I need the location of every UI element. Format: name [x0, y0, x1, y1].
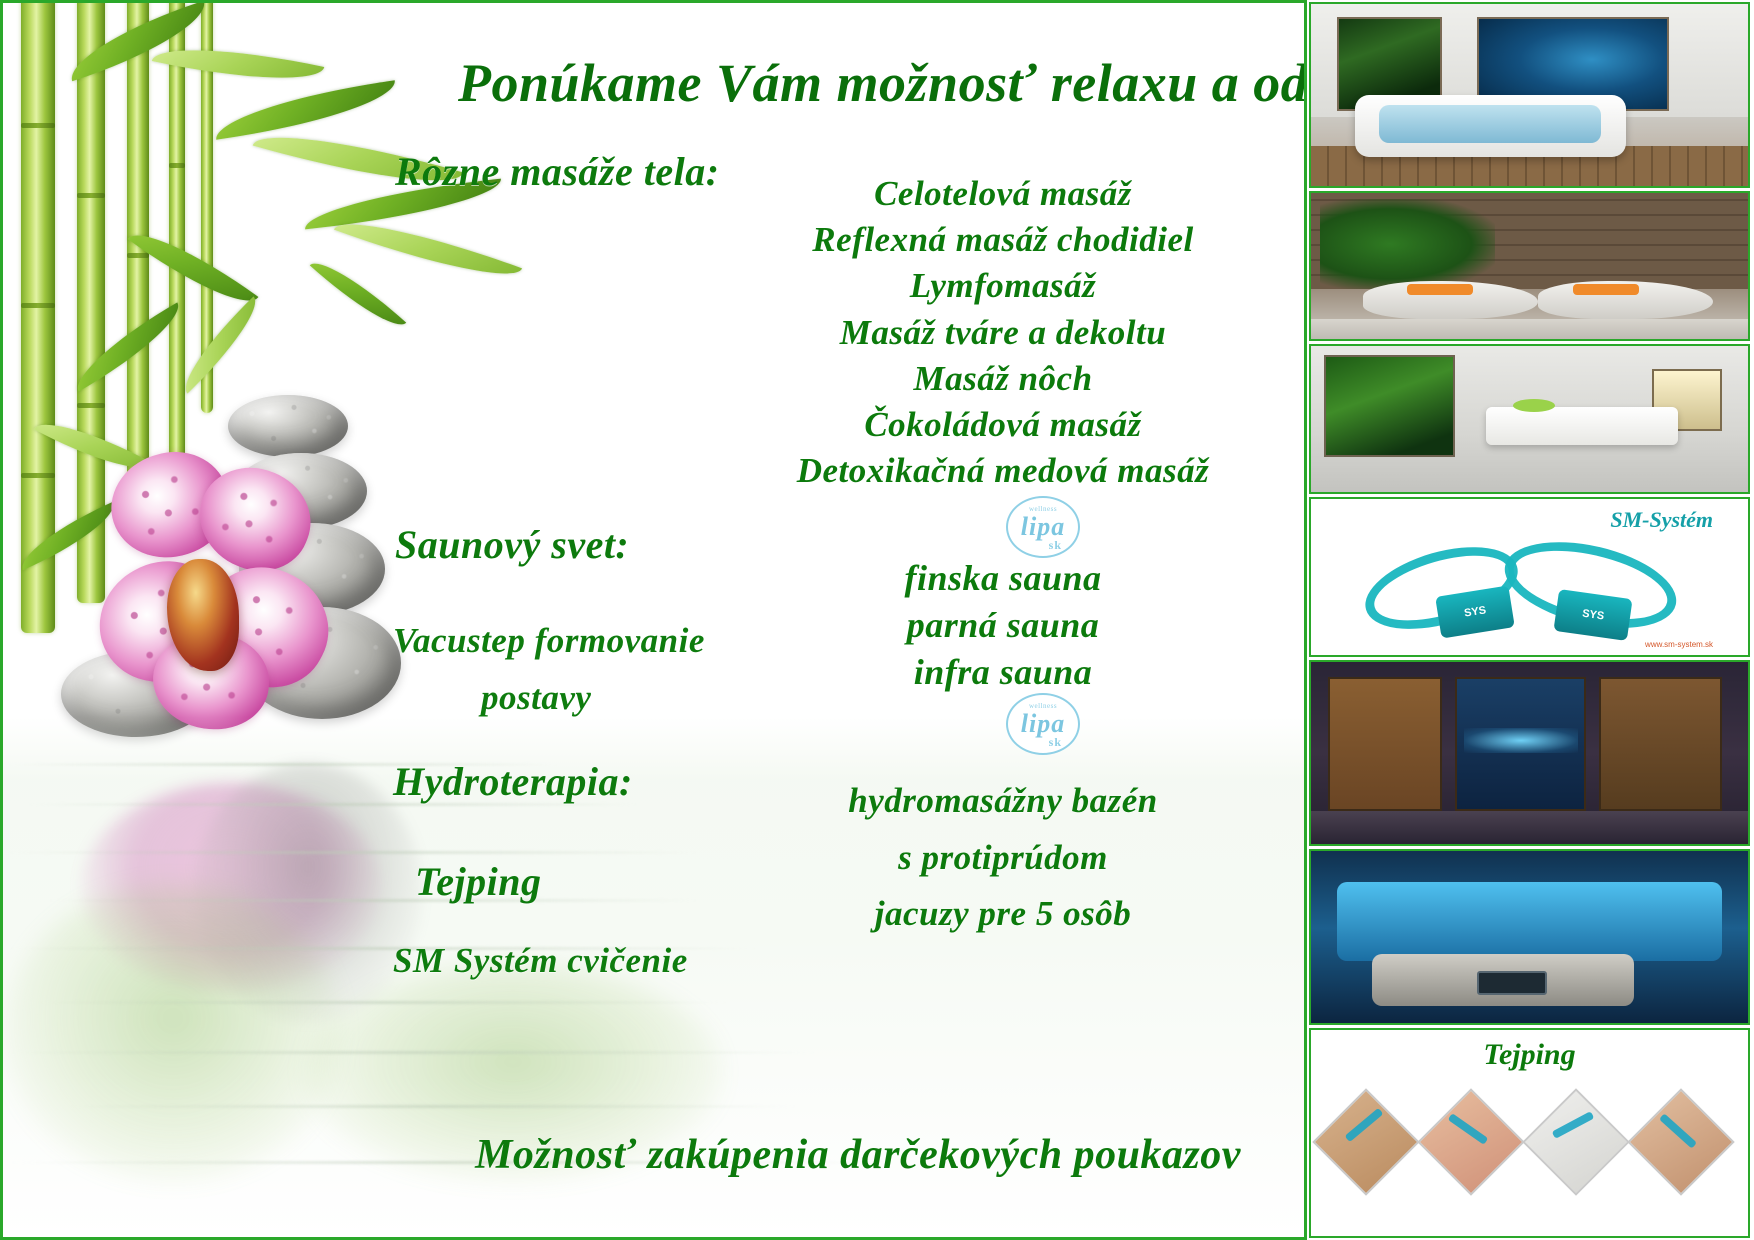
list-item: parná sauna [703, 602, 1303, 649]
sm-system-caption: SM-Systém [1610, 507, 1713, 533]
main-content-panel: Ponúkame Vám možnosť relaxu a oddychu Rô… [0, 0, 1307, 1240]
whirlpool-tub [1355, 95, 1626, 157]
photo-sauna-cabins [1309, 660, 1750, 846]
sauna-cabin [1599, 677, 1721, 812]
tejping-thumb [1418, 1088, 1525, 1195]
sm-system-url: www.sm-system.sk [1645, 640, 1713, 649]
photo-whirlpool-room [1309, 2, 1750, 188]
tejping-thumb [1313, 1088, 1420, 1195]
photo-sm-system-bands: SM-Systém SYS SYS www.sm-system.sk [1309, 497, 1750, 657]
photo-jacuzzi [1309, 849, 1750, 1025]
wall-mural-bamboo [1324, 355, 1455, 457]
jacuzzi-water [1337, 882, 1722, 961]
section-heading-massages: Rôzne masáže tela: [395, 148, 720, 195]
list-item: Lymfomasáž [703, 263, 1303, 309]
list-item: jacuzy pre 5 osôb [703, 886, 1303, 943]
list-item: hydromasážny bazén [703, 773, 1303, 830]
green-plants [1320, 199, 1495, 290]
spa-promo-poster: Ponúkame Vám možnosť relaxu a oddychu Rô… [0, 0, 1754, 1240]
section-heading-sauna: Saunový svet: [395, 521, 629, 568]
list-item: Masáž nôch [703, 356, 1303, 402]
sauna-list: finska sauna parná sauna infra sauna [703, 555, 1303, 695]
lipa-logo-sub: sk [1049, 735, 1062, 750]
list-item: Masáž tváre a dekoltu [703, 310, 1303, 356]
lipa-wellness-logo: wellness lipa sk [1006, 693, 1080, 755]
orange-towel [1407, 284, 1473, 296]
list-item: Reflexná masáž chodidiel [703, 217, 1303, 263]
lipa-wellness-logo: wellness lipa sk [1006, 496, 1080, 558]
tejping-caption: Tejping [1483, 1038, 1575, 1072]
photo-tejping: Tejping [1309, 1028, 1750, 1238]
page-title: Ponúkame Vám možnosť relaxu a oddychu [458, 55, 1288, 112]
orange-towel [1573, 284, 1639, 296]
massage-list: Celotelová masáž Reflexná masáž chodidie… [703, 171, 1303, 494]
list-item: infra sauna [703, 649, 1303, 696]
service-vacustep-line1: Vacustep formovanie [393, 621, 705, 661]
massage-table [1486, 407, 1678, 445]
photo-massage-room [1309, 344, 1750, 494]
lipa-logo-sub: sk [1049, 538, 1062, 553]
tejping-thumb [1627, 1088, 1734, 1195]
list-item: finska sauna [703, 555, 1303, 602]
hydrotherapy-list: hydromasážny bazén s protiprúdom jacuzy … [703, 773, 1303, 943]
text-layer: Ponúkame Vám možnosť relaxu a oddychu Rô… [3, 3, 1304, 1237]
service-sm-system: SM Systém cvičenie [393, 941, 688, 981]
band-handle: SYS [1553, 589, 1632, 641]
lipa-logo-tag: wellness [1029, 702, 1057, 710]
service-vacustep-line2: postavy [481, 678, 591, 718]
list-item: s protiprúdom [703, 830, 1303, 887]
tiled-floor [1311, 319, 1748, 339]
photo-relax-loungers [1309, 191, 1750, 341]
list-item: Detoxikačná medová masáž [703, 448, 1303, 494]
list-item: Celotelová masáž [703, 171, 1303, 217]
cabin-light-glow [1464, 728, 1578, 753]
list-item: Čokoládová masáž [703, 402, 1303, 448]
section-heading-hydrotherapy: Hydroterapia: [393, 758, 633, 805]
lipa-logo-tag: wellness [1029, 505, 1057, 513]
tejping-thumb [1522, 1088, 1629, 1195]
section-heading-tejping: Tejping [415, 858, 542, 905]
sauna-cabin [1328, 677, 1442, 812]
jacuzzi-control-panel [1477, 971, 1547, 995]
corridor-floor [1311, 811, 1748, 844]
photo-gallery-strip: SM-Systém SYS SYS www.sm-system.sk Tejpi… [1307, 0, 1754, 1240]
gift-voucher-note: Možnosť zakúpenia darčekových poukazov [433, 1131, 1283, 1179]
